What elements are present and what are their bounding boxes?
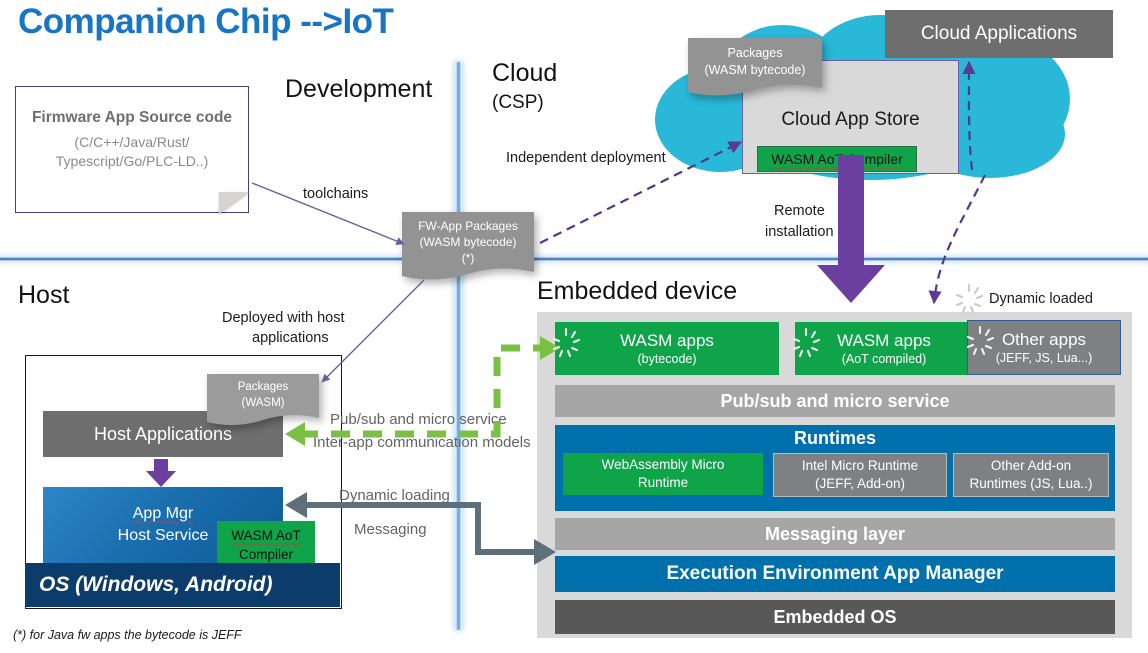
dynamic-loading-label: Dynamic loading: [339, 487, 450, 504]
other-rt-line-2: Runtimes (JS, Lua..): [969, 475, 1092, 493]
cloud-applications-box[interactable]: Cloud Applications: [885, 10, 1113, 58]
independent-deployment-label: Independent deployment: [506, 150, 666, 166]
deployed-with-host-label-2: applications: [252, 330, 329, 346]
dynamic-loaded-arrow: [934, 175, 985, 303]
embedded-os-band[interactable]: Embedded OS: [555, 600, 1115, 634]
wasm-apps-bytecode-sub: (bytecode): [637, 352, 696, 366]
fw-packages-line-2: (WASM bytecode): [402, 234, 534, 250]
cloud-packages-line-1: Packages: [688, 45, 822, 62]
wasm-apps-aot-sub: (AoT compiled): [842, 352, 927, 366]
execution-env-app-manager-band[interactable]: Execution Environment App Manager: [555, 556, 1115, 592]
runtimes-container: Runtimes WebAssembly Micro Runtime Intel…: [555, 425, 1115, 511]
runtimes-band-label: Runtimes: [555, 425, 1115, 449]
section-label-cloud-sub: (CSP): [492, 92, 544, 114]
host-flow-arrow-head: [146, 471, 176, 487]
host-packages-callout: Packages (WASM): [207, 374, 319, 424]
source-line-2: Typescript/Go/PLC-LD..): [16, 152, 248, 171]
fw-packages-line-3: (*): [402, 250, 534, 266]
wamr-line-2: Runtime: [638, 474, 688, 492]
host-service-label: Host Service: [118, 525, 209, 547]
host-wasm-aot-compiler-box[interactable]: WASM AoT Compiler: [217, 521, 315, 569]
firmware-source-code-box: Firmware App Source code (C/C++/Java/Rus…: [15, 86, 249, 213]
cloud-packages-line-2: (WASM bytecode): [688, 62, 822, 79]
os-band[interactable]: OS (Windows, Android): [25, 563, 340, 607]
footnote: (*) for Java fw apps the bytecode is JEF…: [13, 628, 242, 642]
pubsub-band[interactable]: Pub/sub and micro service: [555, 385, 1115, 417]
wamr-line-1: WebAssembly Micro: [602, 456, 725, 474]
source-heading: Firmware App Source code: [16, 109, 248, 127]
toolchains-label: toolchains: [303, 186, 368, 202]
fw-packages-line-1: FW-App Packages: [402, 218, 534, 234]
horizontal-divider: [0, 257, 1148, 261]
dynamic-loaded-label: Dynamic loaded: [989, 291, 1093, 307]
remote-installation-label-2: installation: [765, 224, 834, 240]
other-addon-runtimes-cell[interactable]: Other Add-on Runtimes (JS, Lua..): [953, 453, 1109, 497]
intel-rt-line-2: (JEFF, Add-on): [815, 475, 905, 493]
embedded-device-container: WASM apps (bytecode) WASM apps (AoT comp…: [537, 312, 1132, 638]
cloud-app-store-title: Cloud App Store: [743, 109, 958, 131]
intel-micro-runtime-cell[interactable]: Intel Micro Runtime (JEFF, Add-on): [773, 453, 947, 497]
other-rt-line-1: Other Add-on: [991, 457, 1071, 475]
cloud-packages-callout: Packages (WASM bytecode): [688, 38, 822, 96]
wasm-apps-aot-name: WASM apps: [837, 331, 931, 351]
messaging-layer-band[interactable]: Messaging layer: [555, 518, 1115, 550]
inter-app-models-label: Inter-app communication models: [313, 434, 531, 451]
spinner-icon-legend: [957, 285, 982, 312]
other-apps-box[interactable]: Other apps (JEFF, JS, Lua...): [967, 320, 1121, 375]
remote-installation-arrow-head: [817, 265, 885, 303]
remote-installation-label-1: Remote: [774, 203, 825, 219]
wasm-apps-bytecode-name: WASM apps: [620, 331, 714, 351]
section-label-embedded-device: Embedded device: [537, 277, 737, 306]
app-mgr-label: App Mgr: [133, 505, 193, 522]
source-line-1: (C/C++/Java/Rust/: [16, 133, 248, 152]
other-apps-sub: (JEFF, JS, Lua...): [996, 351, 1093, 365]
deployed-with-host-label-1: Deployed with host: [222, 310, 345, 326]
cloud-wasm-aot-compiler-label: WASM AoT Compiler: [771, 151, 902, 167]
source-box-dogear: [219, 192, 249, 214]
section-label-cloud: Cloud: [492, 59, 557, 88]
intel-rt-line-1: Intel Micro Runtime: [802, 457, 918, 475]
host-aot-line-1: WASM AoT: [231, 528, 300, 543]
webassembly-micro-runtime-cell[interactable]: WebAssembly Micro Runtime: [563, 453, 763, 495]
wasm-apps-bytecode-box[interactable]: WASM apps (bytecode): [555, 322, 779, 375]
pubsub-micro-service-label: Pub/sub and micro service: [330, 411, 507, 428]
host-packages-line-2: (WASM): [207, 395, 319, 411]
other-apps-name: Other apps: [1002, 330, 1086, 350]
messaging-label: Messaging: [354, 521, 427, 538]
fw-app-packages-callout: FW-App Packages (WASM bytecode) (*): [402, 212, 534, 278]
cloud-wasm-aot-compiler-box[interactable]: WASM AoT Compiler: [757, 146, 917, 172]
host-packages-line-1: Packages: [207, 379, 319, 395]
section-label-host: Host: [18, 281, 69, 310]
host-aot-line-2: Compiler: [231, 545, 300, 564]
wasm-apps-aot-box[interactable]: WASM apps (AoT compiled): [795, 322, 973, 375]
page-title: Companion Chip -->IoT: [18, 2, 393, 42]
section-label-development: Development: [285, 75, 432, 104]
remote-installation-arrow-shaft: [838, 155, 864, 275]
